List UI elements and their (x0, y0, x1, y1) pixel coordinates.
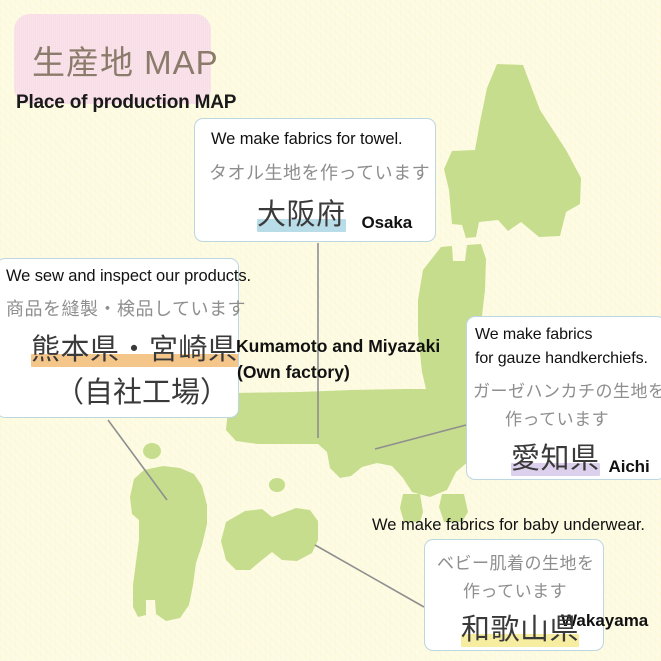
callout-wakayama-ja-line2: 作っています (463, 577, 567, 602)
wakayama-prefecture-ja: 和歌山県 (461, 614, 579, 646)
production-map-page: 生産地 MAP Place of production MAP We make … (0, 0, 661, 661)
aichi-prefecture-en: Aichi (609, 457, 650, 477)
callout-osaka-ja: タオル生地を作っています (209, 159, 430, 185)
callout-aichi-prefecture-row: 愛知県 Aichi (511, 435, 650, 477)
hokkaido-shape (444, 64, 581, 238)
callout-wakayama-ja-line1: ベビー肌着の生地を (437, 549, 595, 574)
leader-line-wakayama (315, 545, 424, 607)
callout-osaka-en: We make fabrics for towel. (211, 130, 403, 149)
honshu-west-shape (226, 410, 302, 444)
page-title-block: 生産地 MAP Place of production MAP (14, 14, 214, 104)
callout-aichi[interactable]: We make fabrics for gauze handkerchiefs.… (466, 316, 661, 480)
callout-aichi-en-line1: We make fabrics (475, 326, 592, 344)
callout-kumamoto-prefecture-row: 熊本県・宮崎県 (31, 326, 238, 368)
page-title-en: Place of production MAP (16, 92, 236, 114)
callout-aichi-ja-line1: ガーゼハンカチの生地を (473, 377, 661, 402)
callout-osaka[interactable]: We make fabrics for towel. タオル生地を作っています … (194, 118, 436, 242)
aichi-prefecture-ja: 愛知県 (511, 443, 600, 475)
label-wakayama-description-en: We make fabrics for baby underwear. (372, 516, 645, 535)
kumamoto-own-factory-ja: （自社工場） (55, 369, 229, 411)
kumamoto-prefecture-wrap: 熊本県・宮崎県 (31, 326, 238, 368)
island-dot-north (143, 443, 161, 459)
kumamoto-prefecture-ja: 熊本県・宮崎県 (31, 334, 238, 366)
callout-osaka-prefecture-row: 大阪府 Osaka (257, 191, 412, 233)
label-kumamoto-miyazaki-en: Kumamoto and Miyazaki (236, 336, 440, 357)
callout-aichi-en-line2: for gauze handkerchiefs. (475, 350, 648, 368)
callout-kumamoto-ja: 商品を縫製・検品しています (6, 295, 246, 321)
page-title-ja: 生産地 MAP (32, 36, 219, 84)
callout-aichi-ja-line2: 作っています (505, 405, 609, 430)
callout-kumamoto-en: We sew and inspect our products. (6, 267, 251, 286)
shikoku-shape (221, 508, 318, 570)
osaka-prefecture-en: Osaka (362, 213, 413, 233)
osaka-prefecture-wrap: 大阪府 (257, 191, 346, 233)
island-dot-central (269, 478, 285, 492)
osaka-prefecture-ja: 大阪府 (257, 199, 346, 231)
callout-kumamoto[interactable]: We sew and inspect our products. 商品を縫製・検… (0, 258, 239, 418)
callout-wakayama[interactable]: ベビー肌着の生地を 作っています 和歌山県 (424, 539, 604, 651)
aichi-prefecture-wrap: 愛知県 (511, 435, 600, 477)
label-own-factory-en: (Own factory) (237, 362, 350, 383)
kyushu-shape (130, 466, 207, 621)
